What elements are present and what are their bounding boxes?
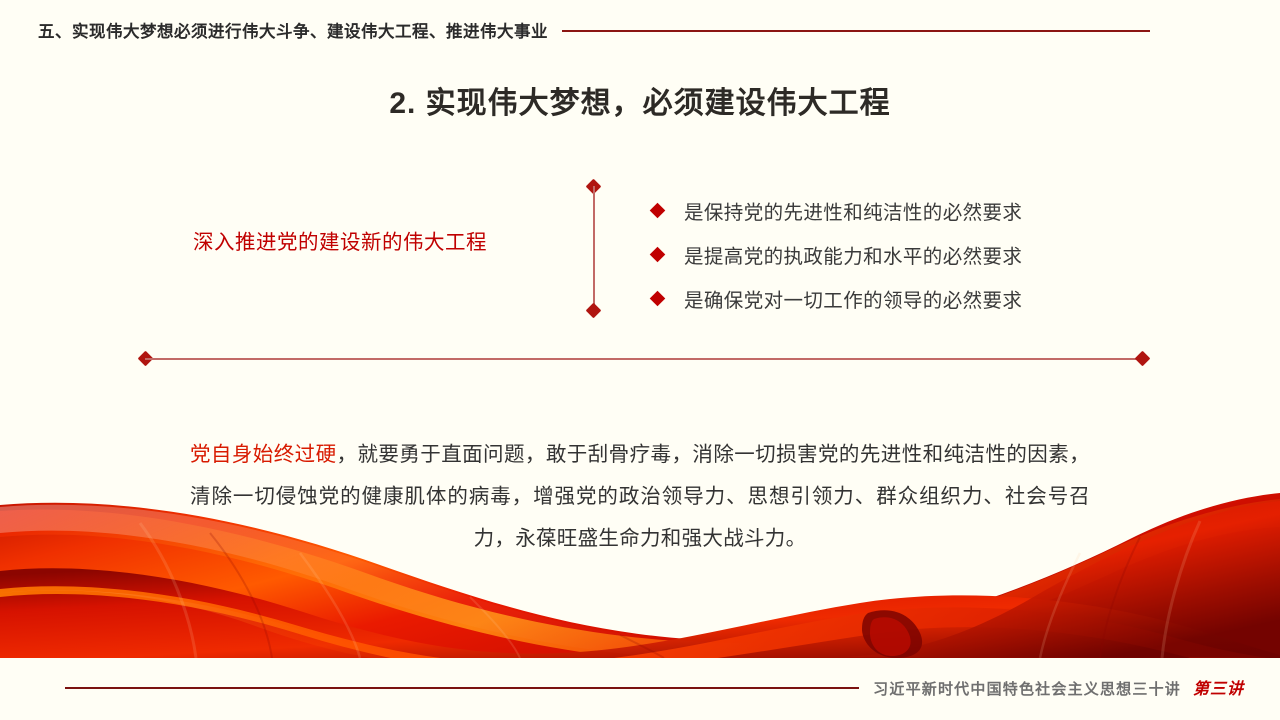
header-divider-line (562, 30, 1150, 32)
list-item-label: 是保持党的先进性和纯洁性的必然要求 (684, 196, 1022, 225)
body-highlight-phrase: 党自身始终过硬 (190, 443, 337, 466)
vertical-divider-line (593, 186, 595, 310)
bullet-list: 是保持党的先进性和纯洁性的必然要求 是提高党的执政能力和水平的必然要求 是确保党… (650, 188, 1210, 320)
presentation-slide: 五、实现伟大梦想必须进行伟大斗争、建设伟大工程、推进伟大事业 2. 实现伟大梦想… (0, 0, 1280, 720)
footer-text-group: 习近平新时代中国特色社会主义思想三十讲 第三讲 (859, 675, 1244, 699)
slide-footer: 习近平新时代中国特色社会主义思想三十讲 第三讲 (0, 658, 1280, 720)
horizontal-divider (140, 352, 1148, 366)
section-title: 五、实现伟大梦想必须进行伟大斗争、建设伟大工程、推进伟大事业 (38, 18, 548, 42)
page-title: 2. 实现伟大梦想，必须建设伟大工程 (0, 78, 1280, 122)
list-item: 是保持党的先进性和纯洁性的必然要求 (650, 188, 1210, 232)
content-middle-block: 深入推进党的建设新的伟大工程 是保持党的先进性和纯洁性的必然要求 是提高党的执政… (0, 170, 1280, 330)
left-highlight-label: 深入推进党的建设新的伟大工程 (120, 225, 560, 255)
diamond-cap-icon-right (1135, 351, 1151, 367)
list-item-label: 是确保党对一切工作的领导的必然要求 (684, 284, 1022, 313)
red-silk-ribbon-decoration (0, 493, 1280, 658)
diamond-bullet-icon (650, 246, 666, 262)
diamond-bullet-icon (650, 290, 666, 306)
slide-header: 五、实现伟大梦想必须进行伟大斗争、建设伟大工程、推进伟大事业 (0, 14, 1280, 46)
diamond-cap-icon-bottom (586, 303, 602, 319)
diamond-bullet-icon (650, 202, 666, 218)
list-item: 是确保党对一切工作的领导的必然要求 (650, 276, 1210, 320)
footer-series-title: 习近平新时代中国特色社会主义思想三十讲 (873, 678, 1181, 699)
footer-lecture-number: 第三讲 (1193, 675, 1244, 699)
horizontal-divider-line (145, 358, 1143, 360)
list-item: 是提高党的执政能力和水平的必然要求 (650, 232, 1210, 276)
list-item-label: 是提高党的执政能力和水平的必然要求 (684, 240, 1022, 269)
